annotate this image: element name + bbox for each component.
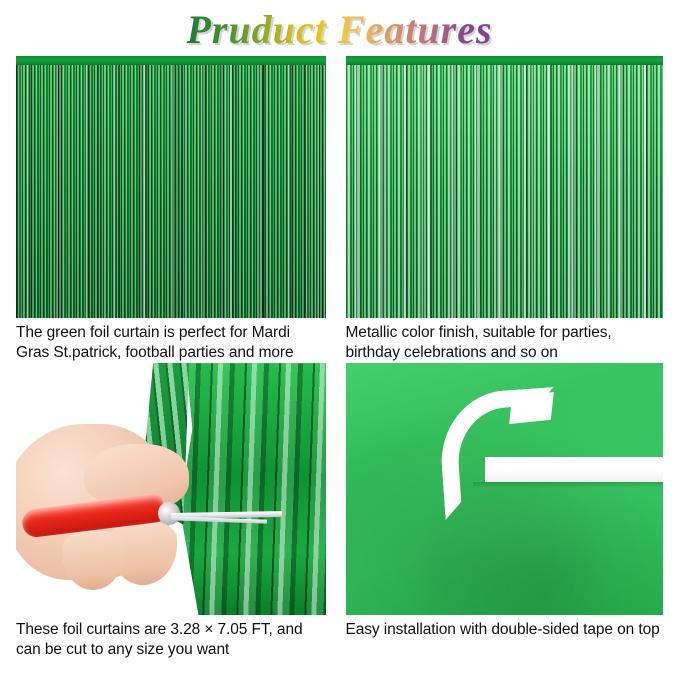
finger bbox=[62, 530, 124, 590]
foil-drape bbox=[177, 363, 326, 615]
curtain-fringe-strips bbox=[346, 64, 664, 318]
feature-row-bottom: These foil curtains are 3.28 × 7.05 FT, … bbox=[0, 363, 679, 660]
feature-caption: The green foil curtain is perfect for Ma… bbox=[16, 318, 326, 363]
feature-grid: The green foil curtain is perfect for Ma… bbox=[0, 56, 679, 661]
feature-cuttable-size: These foil curtains are 3.28 × 7.05 FT, … bbox=[0, 363, 340, 660]
feature-caption: Metallic color finish, suitable for part… bbox=[346, 318, 664, 363]
hand-cutting-foil-with-scissors bbox=[16, 363, 326, 615]
page-header: Pruduct Features bbox=[0, 0, 679, 56]
feature-green-foil-curtain: The green foil curtain is perfect for Ma… bbox=[0, 56, 340, 363]
curtain-header-bar bbox=[346, 56, 664, 65]
feature-row-top: The green foil curtain is perfect for Ma… bbox=[0, 56, 679, 363]
feature-caption: Easy installation with double-sided tape… bbox=[346, 615, 664, 640]
double-sided-tape-on-green-sheet bbox=[346, 363, 664, 615]
curtain-header-bar bbox=[16, 56, 326, 65]
curtain-fringe-strips bbox=[16, 64, 326, 318]
green-foil-curtain-panel-light bbox=[346, 56, 664, 318]
feature-double-sided-tape: Easy installation with double-sided tape… bbox=[340, 363, 679, 660]
tape-tip bbox=[509, 391, 554, 423]
feature-caption: These foil curtains are 3.28 × 7.05 FT, … bbox=[16, 615, 326, 660]
green-foil-curtain-panel bbox=[16, 56, 326, 318]
page-title: Pruduct Features bbox=[186, 6, 492, 53]
feature-metallic-finish: Metallic color finish, suitable for part… bbox=[340, 56, 679, 363]
